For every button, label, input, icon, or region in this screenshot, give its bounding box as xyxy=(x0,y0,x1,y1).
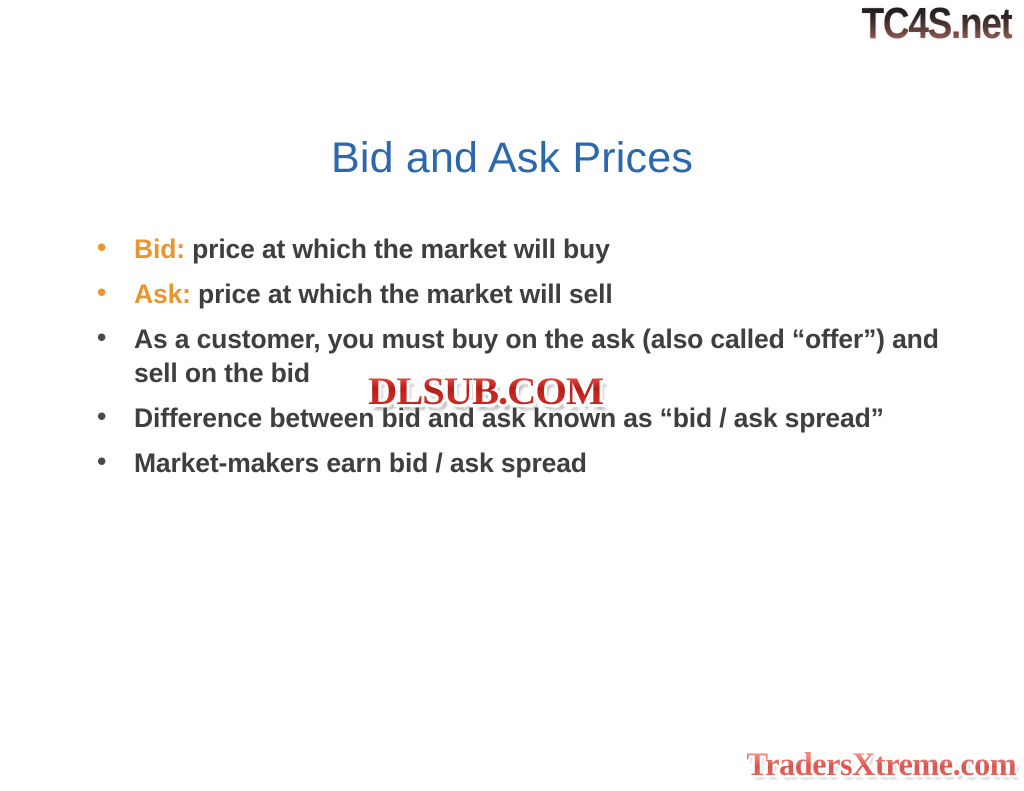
list-item-lead: Ask: xyxy=(134,279,191,309)
bullet-dot-icon: • xyxy=(88,277,134,311)
watermark-tradersxtreme-outline: TradersXtreme.com xyxy=(746,747,1016,783)
list-item: • Difference between bid and ask known a… xyxy=(88,401,958,435)
list-item: • Bid: price at which the market will bu… xyxy=(88,232,958,266)
bullet-dot-icon: • xyxy=(88,322,134,356)
watermark-tradersxtreme-shadow: TradersXtreme.com xyxy=(749,751,1019,787)
page-title: Bid and Ask Prices xyxy=(0,134,1024,182)
list-item: • Ask: price at which the market will se… xyxy=(88,277,958,311)
list-item-lead: Bid: xyxy=(134,234,185,264)
list-item-text: Bid: price at which the market will buy xyxy=(134,232,958,266)
list-item-text: Market-makers earn bid / ask spread xyxy=(134,446,958,480)
list-item-text: As a customer, you must buy on the ask (… xyxy=(134,322,958,390)
list-item-body: price at which the market will buy xyxy=(185,234,610,264)
watermark-tc4s-text: TC4S.net xyxy=(862,2,1012,46)
list-item-text: Difference between bid and ask known as … xyxy=(134,401,958,435)
bullet-dot-icon: • xyxy=(88,446,134,480)
list-item: • Market-makers earn bid / ask spread xyxy=(88,446,958,480)
bullet-dot-icon: • xyxy=(88,232,134,266)
watermark-tradersxtreme-text: TradersXtreme.com xyxy=(746,747,1016,783)
list-item: • As a customer, you must buy on the ask… xyxy=(88,322,958,390)
slide-canvas: TC4S.net TC4S.net Bid and Ask Prices • B… xyxy=(0,0,1024,791)
bullet-list: • Bid: price at which the market will bu… xyxy=(88,232,958,491)
list-item-body: price at which the market will sell xyxy=(191,279,613,309)
list-item-text: Ask: price at which the market will sell xyxy=(134,277,958,311)
bullet-dot-icon: • xyxy=(88,401,134,435)
